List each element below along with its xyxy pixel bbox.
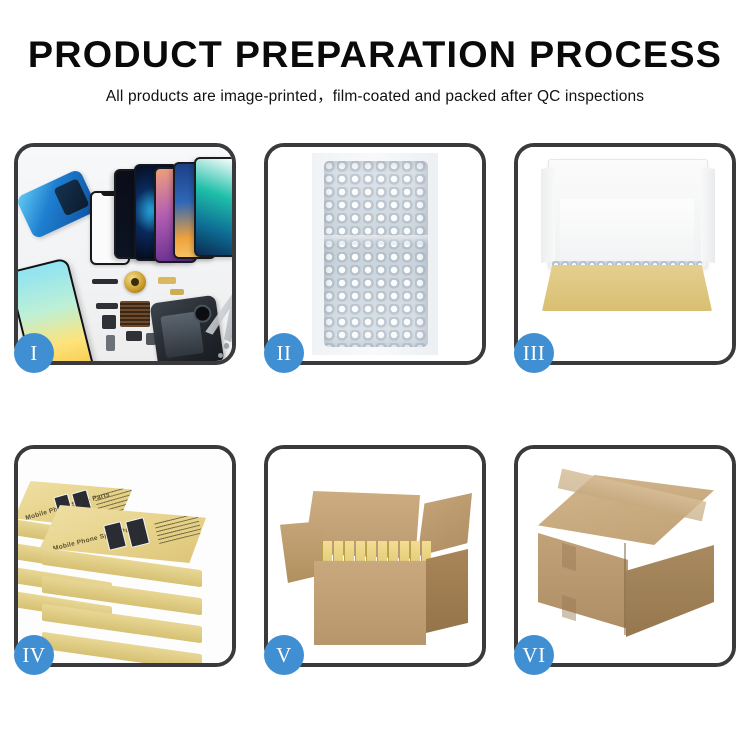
step-badge-5: V bbox=[264, 635, 304, 675]
step-badge-6: VI bbox=[514, 635, 554, 675]
process-step-2: II bbox=[264, 143, 486, 365]
sim-tray bbox=[106, 335, 115, 351]
phone-screen-5 bbox=[194, 157, 232, 257]
connector-part bbox=[126, 331, 142, 341]
part-strip-1 bbox=[92, 279, 118, 284]
carton-left-face bbox=[538, 533, 628, 629]
process-step-5: V bbox=[264, 445, 486, 667]
process-step-4: Mobile Phone Spare Parts Mobile Phone bbox=[14, 445, 236, 667]
logic-board-chip bbox=[120, 301, 150, 327]
bubble-wrap-sheet bbox=[324, 161, 428, 347]
step-badge-3: III bbox=[514, 333, 554, 373]
step-badge-2: II bbox=[264, 333, 304, 373]
step-4-image: Mobile Phone Spare Parts Mobile Phone bbox=[18, 449, 232, 663]
box-stack-scene: Mobile Phone Spare Parts Mobile Phone bbox=[18, 449, 232, 663]
carton-filling-scene bbox=[268, 449, 482, 663]
kraft-box-tray bbox=[542, 265, 712, 311]
process-step-3: III bbox=[514, 143, 736, 365]
flex-cable-gold-1 bbox=[158, 277, 176, 284]
step-2-image bbox=[268, 147, 482, 361]
flex-cable-1 bbox=[96, 303, 118, 309]
camera-module bbox=[102, 315, 116, 329]
step-badge-1: I bbox=[14, 333, 54, 373]
process-step-grid: I II III bbox=[14, 143, 736, 693]
step-3-image bbox=[518, 147, 732, 361]
screw-3 bbox=[218, 353, 223, 358]
process-step-1: I bbox=[14, 143, 236, 365]
step-5-image bbox=[268, 449, 482, 663]
step-badge-4: IV bbox=[14, 635, 54, 675]
step-6-image bbox=[518, 449, 732, 663]
step-1-image bbox=[18, 147, 232, 361]
blue-adhesive-film bbox=[18, 168, 98, 239]
flex-cable-gold-2 bbox=[170, 289, 184, 295]
process-step-6: VI bbox=[514, 445, 736, 667]
carton-side-panel bbox=[426, 549, 468, 633]
carton-seal-mark-top bbox=[562, 543, 576, 571]
page-subtitle: All products are image-printed，film-coat… bbox=[0, 84, 750, 106]
phone-parts-scene bbox=[18, 147, 232, 361]
box-artwork-screen-3 bbox=[103, 521, 127, 551]
box-stack: Mobile Phone Spare Parts Mobile Phone bbox=[18, 463, 232, 663]
speaker-component bbox=[124, 271, 146, 293]
screw-1 bbox=[224, 343, 229, 348]
sealed-carton-scene bbox=[518, 449, 732, 663]
inner-box-scene bbox=[518, 147, 732, 361]
carton-seal-mark-bottom bbox=[562, 595, 576, 621]
foam-insert bbox=[560, 199, 694, 263]
carton-front-panel bbox=[314, 561, 426, 645]
page-title: PRODUCT PREPARATION PROCESS bbox=[0, 34, 750, 76]
bubble-wrap-scene bbox=[268, 147, 482, 361]
infographic-page: PRODUCT PREPARATION PROCESS All products… bbox=[0, 0, 750, 750]
box-spec-lines-2 bbox=[154, 512, 202, 544]
carton-right-face bbox=[626, 545, 714, 637]
carton-corner-edge bbox=[624, 543, 626, 635]
box-artwork-screen-4 bbox=[125, 517, 150, 548]
